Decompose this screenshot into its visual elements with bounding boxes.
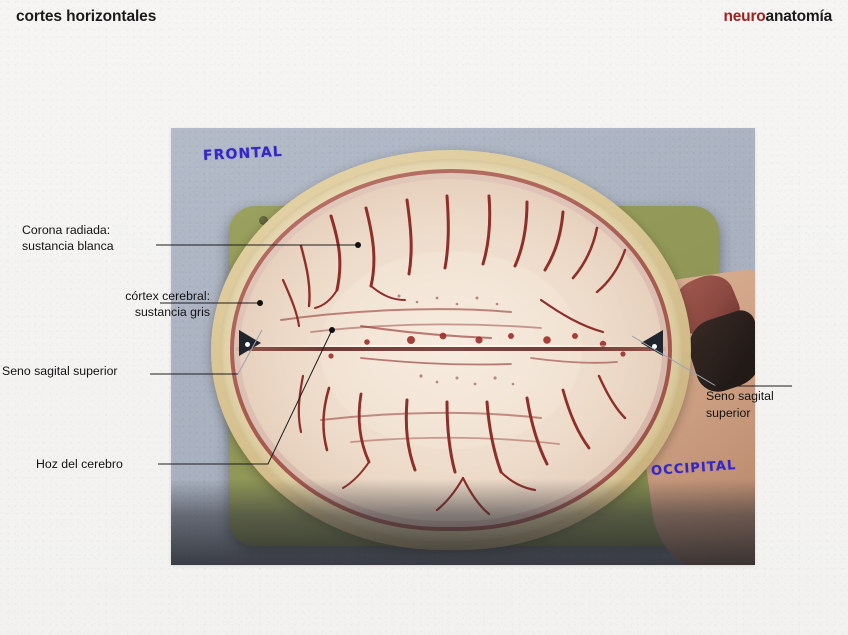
interhemispheric-fissure xyxy=(235,347,667,351)
page-title: cortes horizontales xyxy=(16,8,156,26)
sinus-lumen-highlight-left xyxy=(245,342,250,347)
annotation-corona-radiada: Corona radiada: sustancia blanca xyxy=(22,222,114,254)
brand-prefix: neuro xyxy=(723,8,765,25)
brand-logo: neuroanatomía xyxy=(723,8,832,26)
annotation-cortex-cerebral: córtex cerebral: sustancia gris xyxy=(30,288,210,320)
falx-cerebri xyxy=(241,345,661,347)
superior-sagittal-sinus-posterior xyxy=(641,330,663,356)
photo-lower-shadow xyxy=(171,479,755,565)
annotation-seno-sagital-superior-left: Seno sagital superior xyxy=(2,363,118,379)
annotation-hoz-del-cerebro: Hoz del cerebro xyxy=(36,456,123,472)
annotation-seno-sagital-superior-right: Seno sagital superior xyxy=(706,388,774,422)
brand-suffix: anatomía xyxy=(766,8,832,25)
anatomy-photograph xyxy=(171,128,755,565)
sinus-lumen-highlight-right xyxy=(652,344,657,349)
superior-sagittal-sinus-anterior xyxy=(239,330,261,356)
